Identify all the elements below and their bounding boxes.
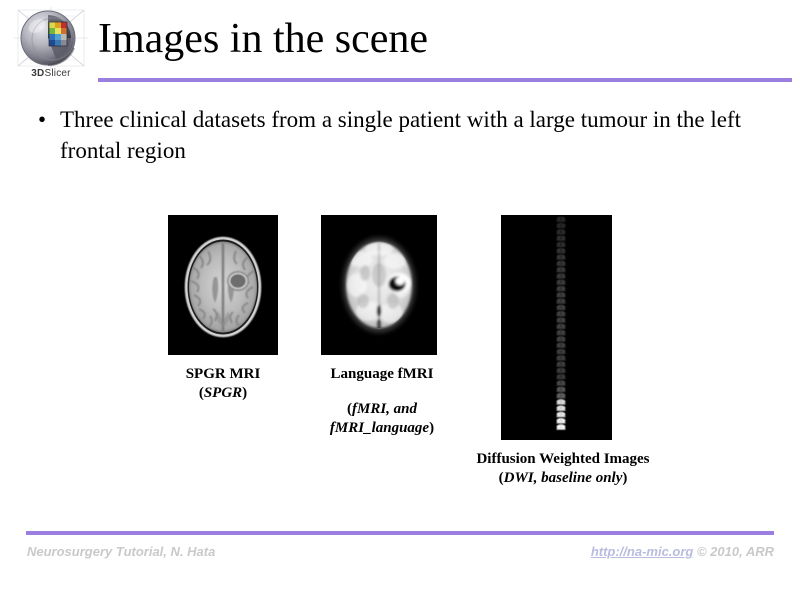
slide-title: Images in the scene — [98, 14, 788, 64]
dwi-montage-strip — [501, 215, 612, 440]
3dslicer-logo: 3DSlicer — [8, 6, 94, 88]
footer-copyright: http://na-mic.org © 2010, ARR — [591, 544, 774, 559]
figure-dwi — [501, 215, 612, 440]
figure-fmri-caption-line2: (fMRI, and fMRI_language) — [296, 400, 468, 438]
figure-fmri — [321, 215, 437, 355]
dwi-image — [501, 215, 612, 440]
bullet-marker: • — [30, 104, 60, 135]
na-mic-link[interactable]: http://na-mic.org — [591, 544, 694, 559]
figure-fmri-caption-line1: Language fMRI — [300, 365, 464, 384]
logo-wordmark-prefix: 3D — [31, 68, 44, 79]
figure-spgr — [168, 215, 278, 355]
bullet-list: • Three clinical datasets from a single … — [30, 104, 770, 166]
figure-spgr-caption: SPGR MRI (SPGR) — [140, 365, 306, 403]
logo-wordmark-suffix: Slicer — [44, 68, 70, 79]
figure-fmri-caption-line1-wrap: Language fMRI — [300, 365, 464, 384]
slide-canvas: 3DSlicer Images in the scene • Three cli… — [0, 0, 800, 600]
figure-spgr-caption-line1: SPGR MRI — [140, 365, 306, 384]
footer-copyright-text: © 2010, ARR — [693, 544, 774, 559]
figure-dwi-caption: Diffusion Weighted Images (DWI, baseline… — [470, 450, 656, 488]
title-divider — [98, 78, 792, 82]
footer-divider — [26, 531, 774, 535]
slicer-sphere-icon — [8, 6, 94, 72]
figure-spgr-caption-line2: (SPGR) — [140, 384, 306, 403]
footer-attribution: Neurosurgery Tutorial, N. Hata — [27, 544, 215, 559]
logo-wordmark: 3DSlicer — [8, 68, 94, 79]
fmri-image — [321, 215, 437, 355]
bullet-text: Three clinical datasets from a single pa… — [60, 104, 770, 166]
voxel-grid-icon — [49, 22, 67, 46]
spgr-mri-image — [168, 215, 278, 355]
